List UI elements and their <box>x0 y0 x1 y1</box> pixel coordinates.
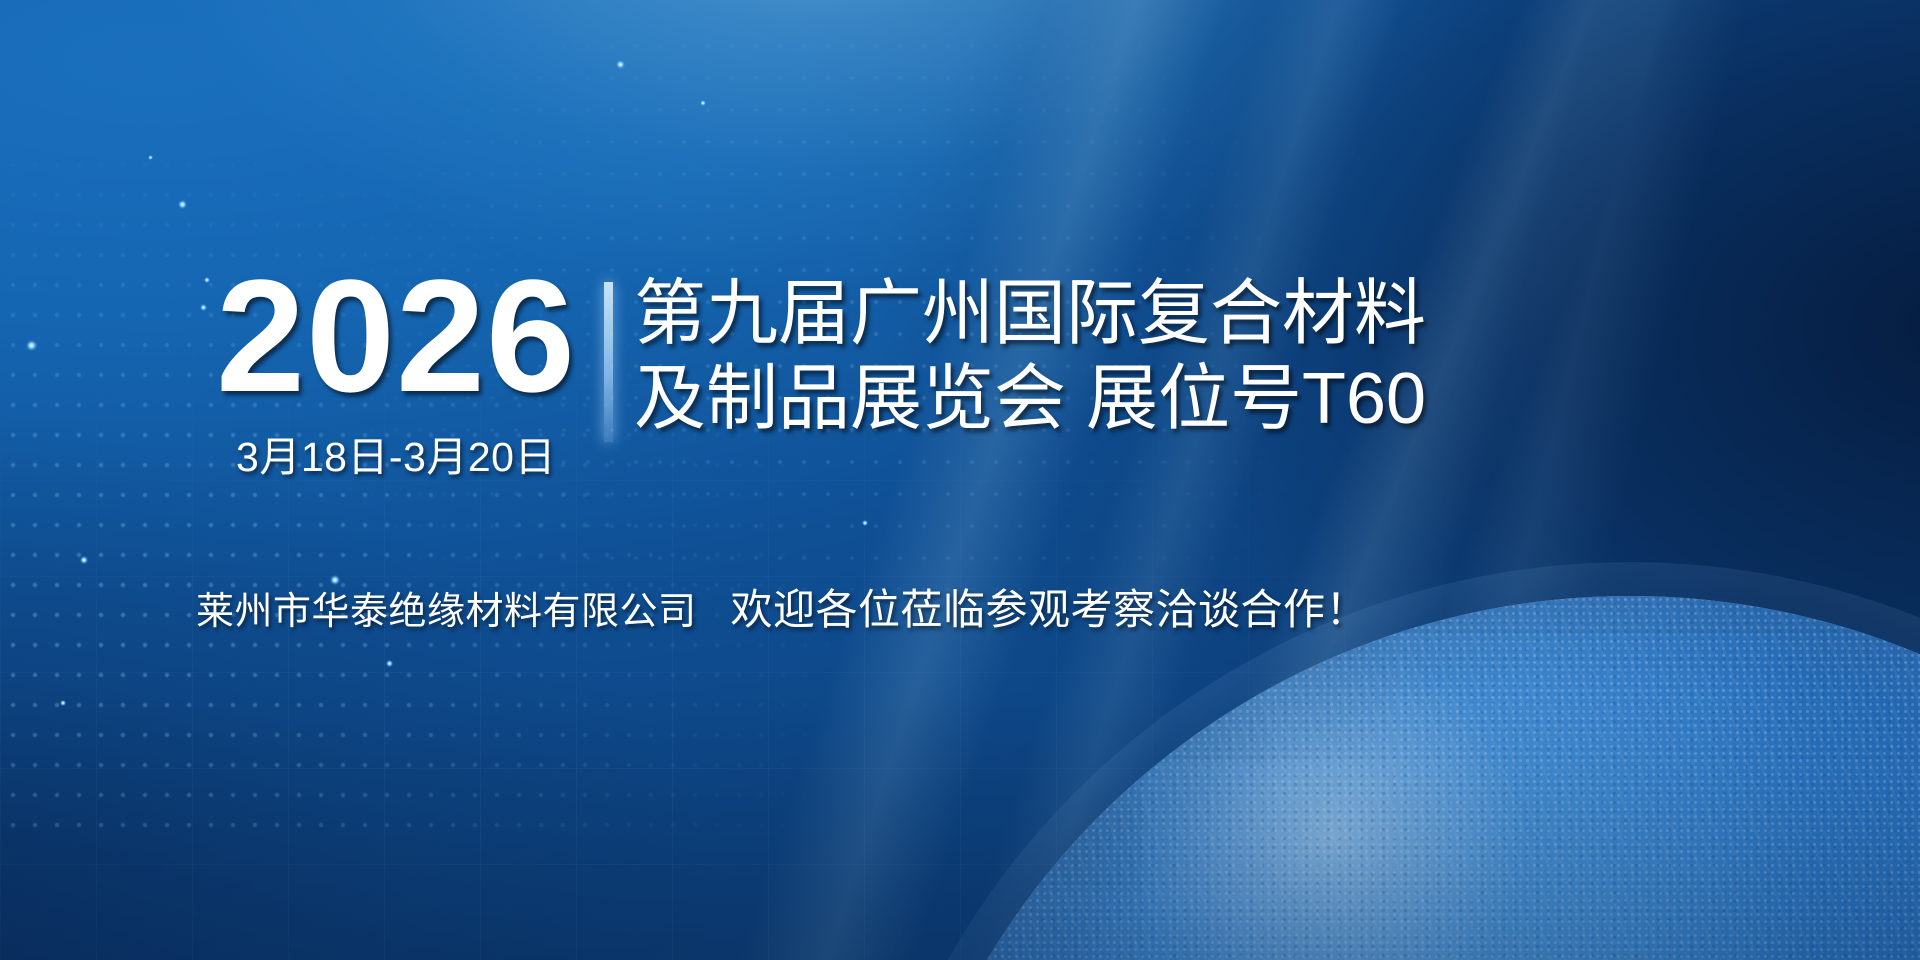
headline-line-1: 第九届广州国际复合材料 <box>634 272 1894 357</box>
welcome-message-label: 欢迎各位莅临参观考察洽谈合作！ <box>731 576 1369 637</box>
date-range-label: 3月18日-3月20日 <box>196 423 596 483</box>
banner-content: 2026 3月18日-3月20日 第九届广州国际复合材料 及制品展览会 展位号T… <box>0 0 1920 960</box>
year-label: 2026 <box>196 258 596 415</box>
exhibition-banner: 2026 3月18日-3月20日 第九届广州国际复合材料 及制品展览会 展位号T… <box>0 0 1920 960</box>
headline-block: 第九届广州国际复合材料 及制品展览会 展位号T60 <box>634 272 1894 442</box>
footer-line: 莱州市华泰绝缘材料有限公司 欢迎各位莅临参观考察洽谈合作！ <box>196 576 1696 637</box>
date-block: 2026 3月18日-3月20日 <box>196 258 596 483</box>
vertical-divider-icon <box>604 282 613 442</box>
company-name-label: 莱州市华泰绝缘材料有限公司 <box>196 580 697 635</box>
headline-line-2: 及制品展览会 展位号T60 <box>634 357 1894 442</box>
